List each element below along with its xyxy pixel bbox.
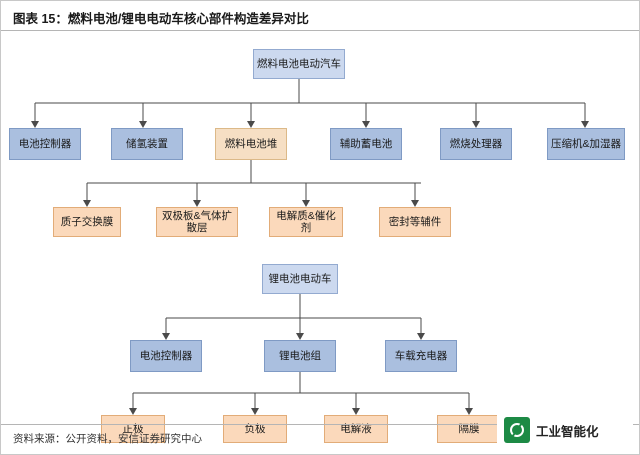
node-bipolar-plate-gas-diffusion[interactable]: 双极板&气体扩散层 [156, 207, 238, 237]
node-hydrogen-storage[interactable]: 储氢装置 [111, 128, 183, 160]
node-label: 燃烧处理器 [450, 138, 503, 150]
node-fuel-cell-vehicle-root[interactable]: 燃料电池电动汽车 [253, 49, 345, 79]
node-fc-battery-controller[interactable]: 电池控制器 [9, 128, 81, 160]
figure-page: 图表 15：燃料电池/锂电电动车核心部件构造差异对比 [0, 0, 640, 455]
node-auxiliary-battery[interactable]: 辅助蓄电池 [330, 128, 402, 160]
node-label: 压缩机&加湿器 [551, 138, 621, 150]
node-onboard-charger[interactable]: 车载充电器 [385, 340, 457, 372]
brand-label: 工业智能化 [536, 421, 599, 440]
node-li-battery-controller[interactable]: 电池控制器 [130, 340, 202, 372]
node-label: 燃料电池堆 [225, 138, 278, 150]
node-label: 双极板&气体扩散层 [159, 210, 235, 234]
node-sealing-accessories[interactable]: 密封等辅件 [379, 207, 451, 237]
node-li-battery-vehicle-root[interactable]: 锂电池电动车 [262, 264, 338, 294]
figure-title: 图表 15：燃料电池/锂电电动车核心部件构造差异对比 [13, 8, 309, 27]
node-label: 辅助蓄电池 [340, 138, 393, 150]
node-li-battery-pack[interactable]: 锂电池组 [264, 340, 336, 372]
node-label: 密封等辅件 [389, 216, 442, 228]
node-compressor-humidifier[interactable]: 压缩机&加湿器 [547, 128, 625, 160]
node-label: 锂电池组 [279, 350, 321, 362]
node-fuel-cell-stack[interactable]: 燃料电池堆 [215, 128, 287, 160]
figure-footer-bar: 资料来源：公开资料，安信证券研究中心 工业智能化 [1, 424, 639, 454]
leaf-circle-logo-icon [504, 417, 530, 443]
node-fuel-processor[interactable]: 燃烧处理器 [440, 128, 512, 160]
source-note: 资料来源：公开资料，安信证券研究中心 [13, 431, 202, 446]
node-label: 电池控制器 [19, 138, 72, 150]
node-label: 电池控制器 [140, 350, 193, 362]
node-label: 锂电池电动车 [269, 273, 332, 285]
node-label: 电解质&催化剂 [272, 210, 340, 234]
node-label: 燃料电池电动汽车 [257, 58, 341, 70]
figure-title-bar: 图表 15：燃料电池/锂电电动车核心部件构造差异对比 [1, 1, 639, 31]
diagram-canvas: 燃料电池电动汽车 电池控制器 储氢装置 燃料电池堆 辅助蓄电池 燃烧处理器 压缩… [1, 31, 639, 424]
node-label: 质子交换膜 [61, 216, 114, 228]
node-label: 车载充电器 [395, 350, 448, 362]
node-proton-exchange-membrane[interactable]: 质子交换膜 [53, 207, 121, 237]
brand-watermark: 工业智能化 [497, 412, 633, 448]
node-label: 储氢装置 [126, 138, 168, 150]
node-electrolyte-catalyst[interactable]: 电解质&催化剂 [269, 207, 343, 237]
